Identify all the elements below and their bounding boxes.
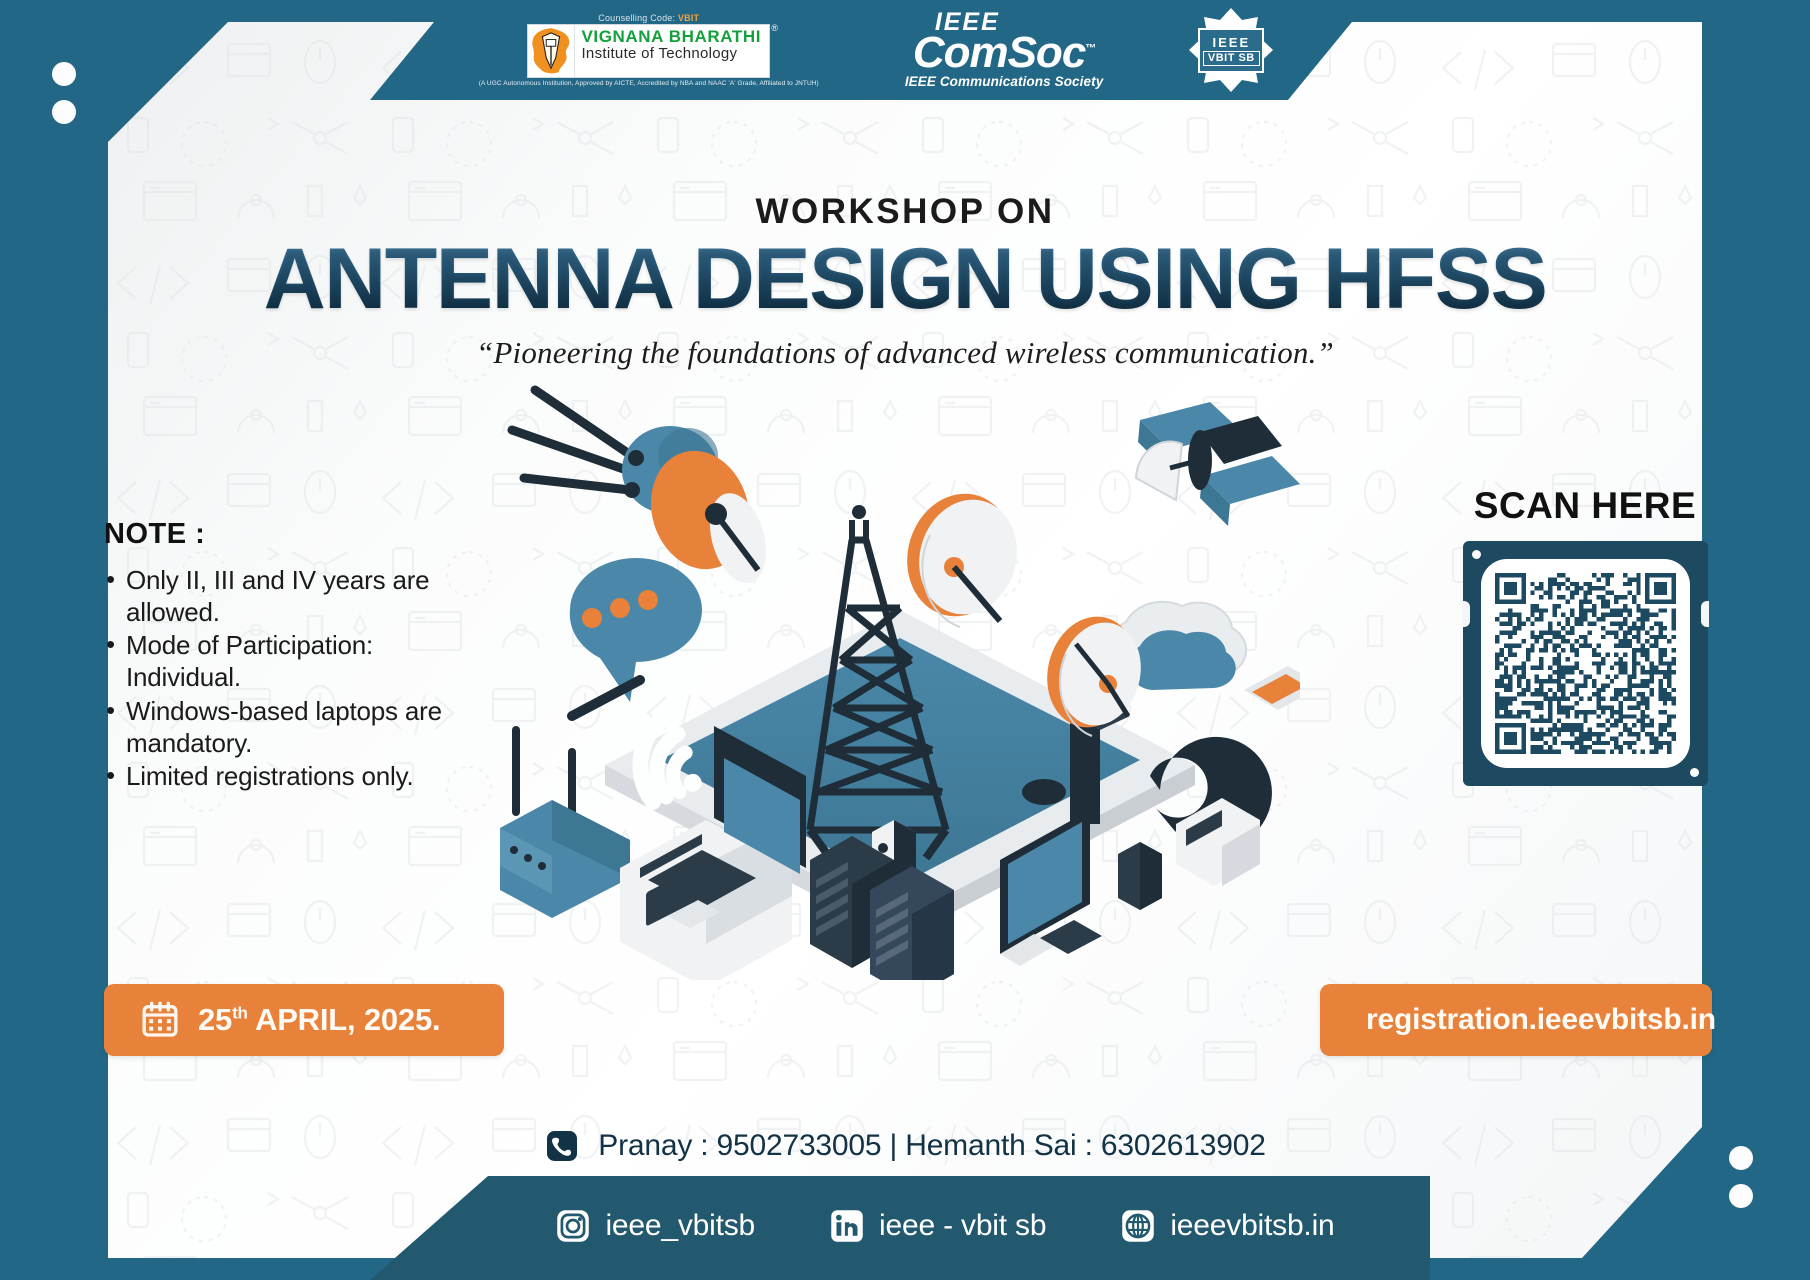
- footer-band: ieee_vbitsb ieee - vbit sb ieeevbitsb.in: [370, 1176, 1430, 1280]
- comsoc-trademark: ™: [1085, 42, 1095, 54]
- vbit-logo: Counselling Code: VBIT VIGNANA BHARATHI: [479, 13, 819, 87]
- social-handle: ieee - vbit sb: [879, 1209, 1046, 1243]
- date-rest: APRIL, 2025.: [248, 1002, 441, 1037]
- note-item: Limited registrations only.: [104, 761, 494, 793]
- instagram-icon: [555, 1208, 591, 1244]
- vbit-name: VIGNANA BHARATHI: [581, 28, 761, 46]
- note-item: Windows-based laptops are mandatory.: [104, 696, 494, 759]
- tower-tip: [852, 505, 866, 519]
- counselling-code: Counselling Code: VBIT: [598, 13, 699, 23]
- calendar-icon: [140, 1000, 180, 1040]
- registration-link-text: registration.ieeevbitsb.in: [1366, 1003, 1716, 1037]
- date-day: 25: [198, 1002, 232, 1037]
- tablet: [1244, 666, 1300, 710]
- ieee-comsoc-logo: IEEE ComSoc™ IEEE Communications Society: [905, 11, 1104, 90]
- note-item: Mode of Participation: Individual.: [104, 630, 494, 693]
- solar-satellite: [1136, 402, 1300, 526]
- counselling-code-value: VBIT: [678, 13, 699, 23]
- qr-notch-left: [1462, 601, 1470, 627]
- note-list: Only II, III and IV years are allowed. M…: [104, 565, 494, 793]
- corner-dot: [52, 62, 76, 86]
- vbit-subtitle: Institute of Technology: [581, 46, 761, 63]
- isometric-telecom-illustration: [500, 360, 1300, 980]
- vbit-accreditation: (A UGC Autonomous Institution, Approved …: [479, 80, 819, 87]
- poster-root: Counselling Code: VBIT VIGNANA BHARATHI: [0, 0, 1810, 1280]
- registered-mark: ®: [771, 23, 778, 33]
- corner-dot: [52, 100, 76, 124]
- social-linkedin[interactable]: ieee - vbit sb: [829, 1208, 1046, 1244]
- vr-headset: [1150, 737, 1272, 886]
- registration-link-badge[interactable]: registration.ieeevbitsb.in: [1320, 984, 1712, 1056]
- page-title: ANTENNA DESIGN USING HFSS: [0, 232, 1810, 327]
- linkedin-icon: [829, 1208, 865, 1244]
- platform-knob: [1022, 779, 1066, 805]
- social-handle: ieeevbitsb.in: [1170, 1209, 1334, 1243]
- date-text: 25th APRIL, 2025.: [198, 1002, 440, 1038]
- sb-name-text: VBIT SB: [1203, 51, 1260, 66]
- globe-icon: [1120, 1208, 1156, 1244]
- eyebrow-title: WORKSHOP ON: [0, 192, 1810, 232]
- satellite-dish-white: [893, 481, 1030, 629]
- phone-icon: [544, 1128, 580, 1164]
- note-item: Only II, III and IV years are allowed.: [104, 565, 494, 628]
- corner-dot: [1729, 1184, 1753, 1208]
- contact-text: Pranay : 9502733005 | Hemanth Sai : 6302…: [598, 1129, 1265, 1163]
- contact-line: Pranay : 9502733005 | Hemanth Sai : 6302…: [0, 1128, 1810, 1164]
- qr-frame[interactable]: [1463, 541, 1708, 786]
- ieee-vbit-sb-badge: IEEE VBIT SB: [1189, 8, 1273, 92]
- note-block: NOTE : Only II, III and IV years are all…: [104, 518, 494, 795]
- header-band: Counselling Code: VBIT VIGNANA BHARATHI: [370, 0, 1370, 100]
- social-instagram[interactable]: ieee_vbitsb: [555, 1208, 755, 1244]
- router: [500, 730, 630, 918]
- qr-code[interactable]: [1495, 573, 1676, 754]
- scan-title: SCAN HERE: [1455, 485, 1715, 527]
- scan-section: SCAN HERE: [1455, 485, 1715, 786]
- qr-inner: [1481, 559, 1690, 768]
- note-heading: NOTE :: [104, 518, 494, 551]
- qr-notch-right: [1701, 601, 1709, 627]
- counselling-code-label: Counselling Code:: [598, 13, 675, 23]
- sb-ieee-text: IEEE: [1213, 36, 1251, 49]
- comsoc-name: ComSoc: [913, 28, 1085, 77]
- date-badge: 25th APRIL, 2025.: [104, 984, 504, 1056]
- social-website[interactable]: ieeevbitsb.in: [1120, 1208, 1334, 1244]
- vbit-flame-logo-icon: [528, 25, 574, 77]
- social-handle: ieee_vbitsb: [605, 1209, 755, 1243]
- date-ordinal: th: [232, 1004, 248, 1023]
